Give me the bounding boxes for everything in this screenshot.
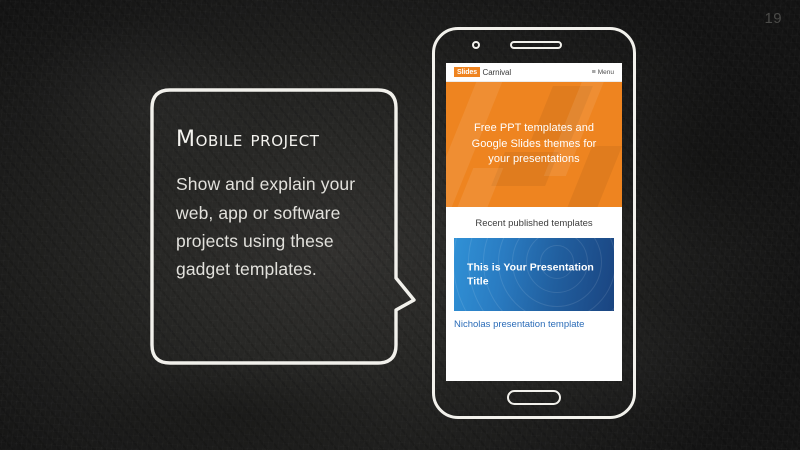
site-logo[interactable]: Slides Carnival xyxy=(454,67,511,77)
speech-bubble-content: Mobile project Show and explain your web… xyxy=(176,128,380,284)
template-link[interactable]: Nicholas presentation template xyxy=(454,318,614,331)
site-navbar: Slides Carnival ≡ Menu xyxy=(446,63,622,82)
chalkboard-smudges xyxy=(0,0,800,450)
bubble-body-text: Show and explain your web, app or softwa… xyxy=(176,170,380,283)
hamburger-menu-icon: ≡ xyxy=(592,69,596,76)
hero-banner: Free PPT templates and Google Slides the… xyxy=(446,82,622,207)
logo-badge: Slides xyxy=(454,67,480,77)
page-number: 19 xyxy=(765,10,783,27)
bubble-title: Mobile project xyxy=(176,128,380,152)
phone-mockup: Slides Carnival ≡ Menu Free P xyxy=(432,27,636,419)
template-card[interactable]: This is Your Presentation Title xyxy=(454,238,614,311)
recent-section-title: Recent published templates xyxy=(446,207,622,238)
home-button-icon[interactable] xyxy=(507,390,561,405)
speaker-grille-icon xyxy=(510,41,562,49)
camera-dot-icon xyxy=(472,41,480,49)
menu-label: Menu xyxy=(598,69,614,76)
logo-word: Carnival xyxy=(483,68,512,77)
hero-headline: Free PPT templates and Google Slides the… xyxy=(446,121,622,168)
speech-bubble: Mobile project Show and explain your web… xyxy=(150,88,398,365)
template-card-title: This is Your Presentation Title xyxy=(467,261,614,290)
slide-canvas: 19 Mobile project Show and explain your … xyxy=(0,0,800,450)
menu-button[interactable]: ≡ Menu xyxy=(592,69,614,76)
phone-screen: Slides Carnival ≡ Menu Free P xyxy=(446,63,622,381)
